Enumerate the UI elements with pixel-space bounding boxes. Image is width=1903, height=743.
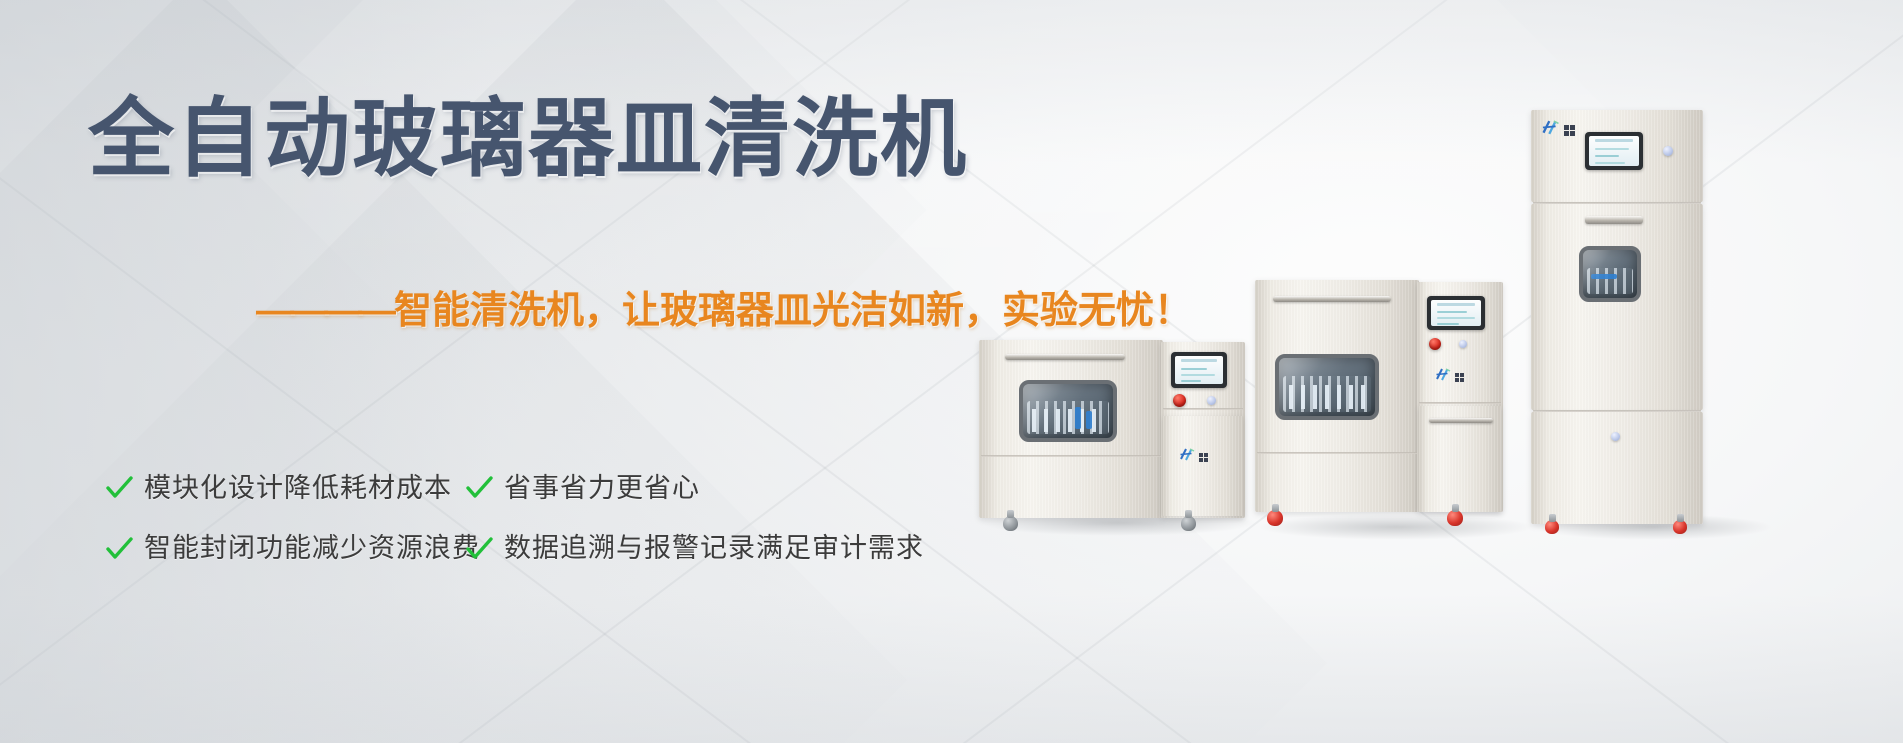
caster-wheel <box>1447 510 1463 526</box>
viewing-window <box>1579 246 1641 302</box>
check-icon <box>464 473 494 503</box>
product-image-undercounter-washer <box>973 330 1263 530</box>
list-item: 省事省力更省心 <box>464 472 700 504</box>
caster-wheel <box>1267 510 1283 526</box>
feature-list: 模块化设计降低耗材成本 省事省力更省心 <box>104 472 984 593</box>
power-button[interactable] <box>1663 146 1673 156</box>
logo-grid-mark <box>1455 373 1464 382</box>
check-icon <box>104 473 134 503</box>
emergency-stop-button[interactable] <box>1429 338 1441 350</box>
caster-wheel <box>1673 520 1687 534</box>
logo-h-mark <box>1541 120 1561 140</box>
viewing-window <box>1019 380 1117 442</box>
power-button[interactable] <box>1207 396 1216 405</box>
caster-wheel <box>1003 516 1018 531</box>
feature-label: 模块化设计降低耗材成本 <box>144 472 452 504</box>
touchscreen-display[interactable] <box>1171 352 1227 388</box>
list-item: 数据追溯与报警记录满足审计需求 <box>464 532 924 564</box>
emergency-stop-button[interactable] <box>1173 394 1186 407</box>
touchscreen-display[interactable] <box>1427 296 1485 330</box>
feature-label: 智能封闭功能减少资源浪费 <box>144 532 480 564</box>
lower-latch-icon <box>1611 432 1620 441</box>
power-button[interactable] <box>1459 340 1467 348</box>
brand-logo <box>1435 368 1464 386</box>
product-image-freestanding-washer <box>1251 272 1541 534</box>
promo-banner: 全自动玻璃器皿清洗机 ————智能清洗机，让玻璃器皿光洁如新，实验无忧！ 模块化… <box>0 0 1903 743</box>
page-title: 全自动玻璃器皿清洗机 <box>88 96 968 182</box>
list-item: 模块化设计降低耗材成本 <box>104 472 464 504</box>
feature-label: 数据追溯与报警记录满足审计需求 <box>504 532 924 564</box>
caster-wheel <box>1545 520 1559 534</box>
logo-h-mark <box>1179 448 1196 466</box>
brand-logo <box>1179 448 1208 466</box>
logo-h-mark <box>1435 368 1452 386</box>
feature-label: 省事省力更省心 <box>504 472 700 504</box>
check-icon <box>464 534 494 564</box>
logo-grid-mark <box>1564 125 1575 136</box>
check-icon <box>104 534 134 564</box>
logo-grid-mark <box>1199 453 1208 462</box>
product-image-tall-column-washer <box>1523 110 1783 534</box>
copy-block: 全自动玻璃器皿清洗机 ————智能清洗机，让玻璃器皿光洁如新，实验无忧！ 模块化… <box>0 0 1120 743</box>
feature-row: 智能封闭功能减少资源浪费 数据追溯与报警记录满足审计需求 <box>104 532 984 564</box>
brand-logo <box>1541 120 1575 140</box>
caster-wheel <box>1181 516 1196 531</box>
viewing-window <box>1275 354 1379 420</box>
product-images <box>983 0 1903 743</box>
feature-row: 模块化设计降低耗材成本 省事省力更省心 <box>104 472 984 504</box>
subtitle-dash: ———— <box>256 290 392 332</box>
touchscreen-display[interactable] <box>1585 132 1643 170</box>
list-item: 智能封闭功能减少资源浪费 <box>104 532 464 564</box>
